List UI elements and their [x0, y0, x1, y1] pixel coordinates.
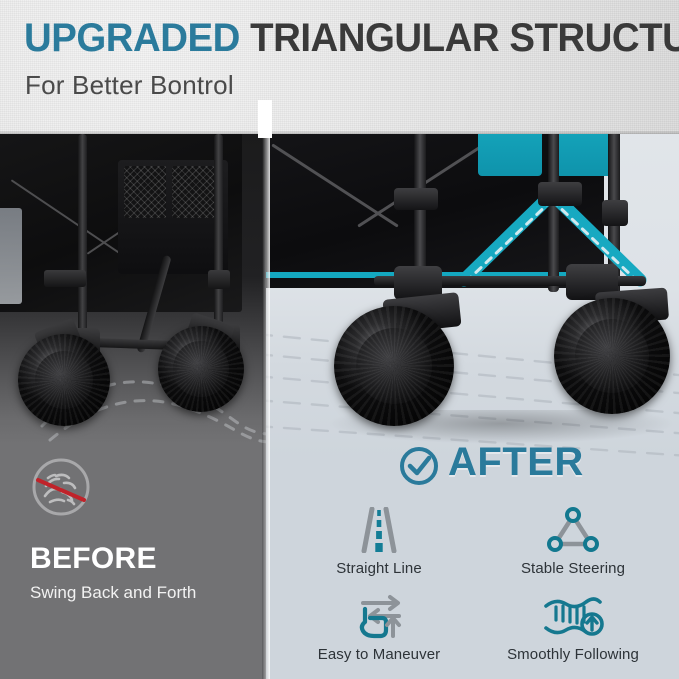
- after-panel: AFTER Straight Line: [266, 100, 679, 679]
- before-caption-block: BEFORE Swing Back and Forth: [0, 434, 266, 679]
- wagon-wheel-right-1: [334, 306, 454, 426]
- after-product-photo: [266, 100, 679, 460]
- prohibited-swerve-icon: [30, 456, 92, 518]
- panel-divider: [262, 100, 270, 679]
- feature-label: Straight Line: [284, 561, 474, 576]
- wagon-wheel-right-2: [554, 298, 670, 414]
- wagon-side-panel-left: [0, 208, 22, 304]
- wagon-clamp-right-2: [538, 182, 582, 206]
- wagon-clamp-left-1: [44, 270, 86, 287]
- feature-label: Easy to Maneuver: [284, 647, 474, 662]
- wagon-clamp-right-1: [394, 188, 438, 210]
- road-perspective-icon: [284, 505, 474, 555]
- feature-smoothly-following: Smoothly Following: [478, 591, 668, 677]
- wagon-wheel-left-2: [158, 326, 244, 412]
- header-banner: UPGRADED TRIANGULAR STRUCTURE For Better…: [0, 0, 679, 134]
- page-subtitle: For Better Bontrol: [25, 72, 234, 98]
- corner-notch: [258, 100, 272, 138]
- infographic-page: UPGRADED TRIANGULAR STRUCTURE For Better…: [0, 0, 679, 679]
- before-panel: BEFORE Swing Back and Forth: [0, 134, 266, 679]
- after-heading-row: AFTER: [398, 445, 678, 495]
- after-features-grid: Straight Line Stable Steeri: [280, 505, 679, 675]
- triangle-nodes-icon: [478, 505, 668, 555]
- title-rest: TRIANGULAR STRUCTURE: [240, 16, 679, 60]
- title-highlight: UPGRADED: [24, 16, 240, 60]
- hand-arrows-icon: [284, 591, 474, 641]
- after-title: AFTER: [448, 442, 584, 482]
- wagon-clamp-right-3: [602, 200, 628, 226]
- feature-label: Stable Steering: [478, 561, 668, 576]
- before-product-photo: [0, 134, 266, 444]
- feature-straight-line: Straight Line: [284, 505, 474, 591]
- feature-label: Smoothly Following: [478, 647, 668, 662]
- check-circle-icon: [398, 445, 440, 487]
- before-title: BEFORE: [30, 544, 157, 574]
- wagon-clamp-left-2: [208, 270, 230, 289]
- wave-arrow-up-icon: [478, 591, 668, 641]
- page-title: UPGRADED TRIANGULAR STRUCTURE: [24, 18, 679, 58]
- wagon-wheel-left-1: [18, 334, 110, 426]
- feature-stable-steering: Stable Steering: [478, 505, 668, 591]
- feature-easy-to-maneuver: Easy to Maneuver: [284, 591, 474, 677]
- mesh-pocket-icon: [124, 166, 172, 218]
- before-subtitle: Swing Back and Forth: [30, 584, 196, 601]
- mesh-pocket-icon: [172, 166, 220, 218]
- wagon-leg-left-1: [78, 134, 87, 346]
- wagon-leg-left-2: [214, 134, 223, 334]
